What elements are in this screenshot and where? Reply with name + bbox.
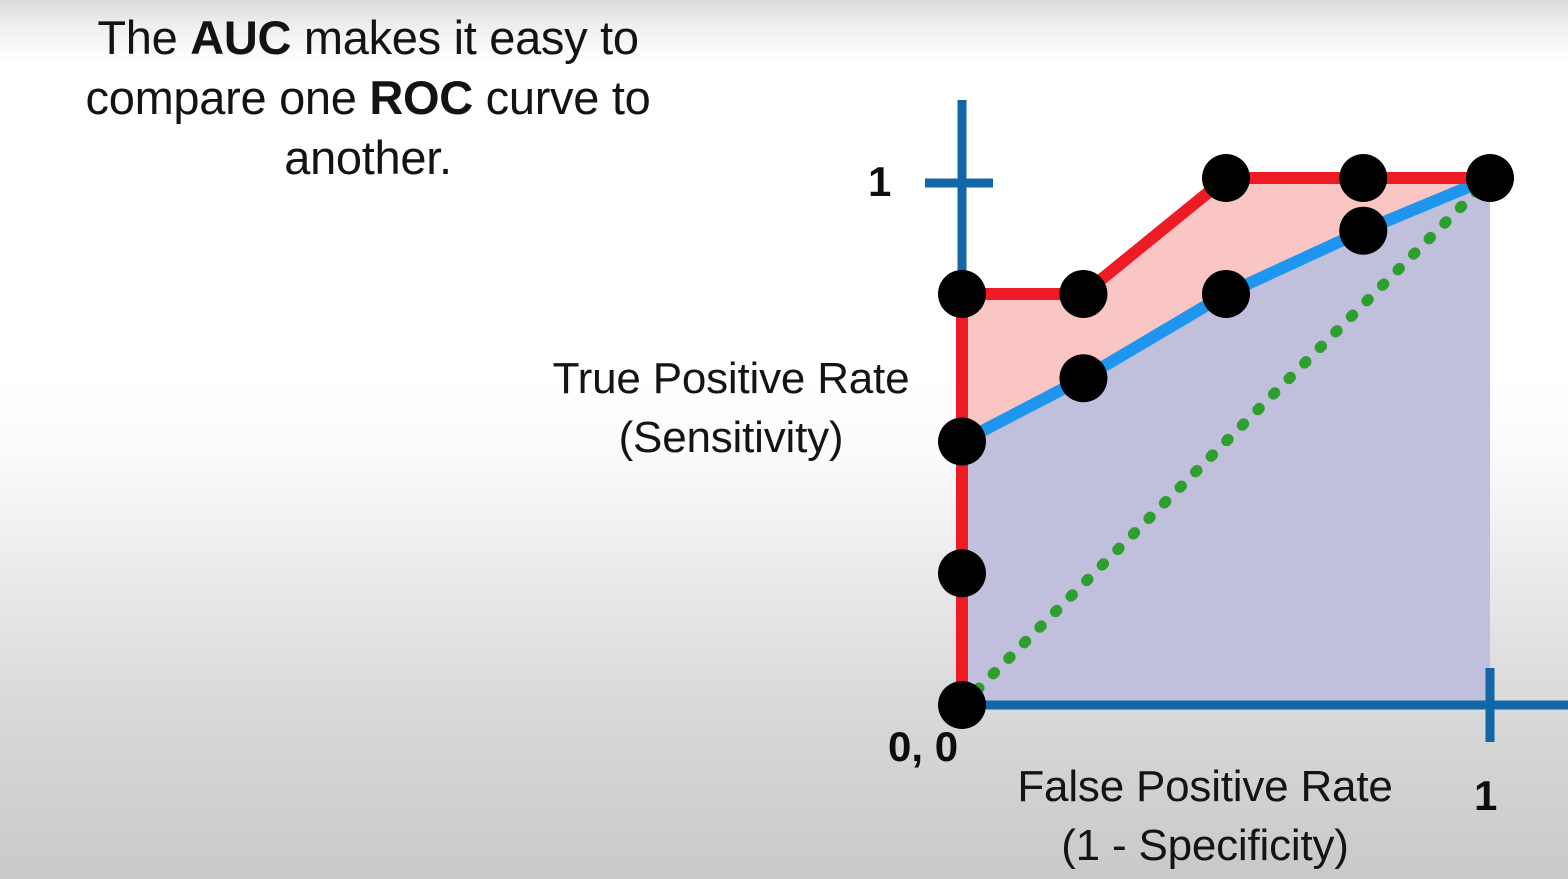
- data-point-marker: [938, 418, 986, 466]
- y-axis-title-main: True Positive Rate: [553, 354, 910, 403]
- y-tick-label-1: 1: [868, 158, 891, 206]
- data-point-marker: [1202, 270, 1250, 318]
- x-axis-title-main: False Positive Rate: [1017, 762, 1392, 811]
- data-point-marker: [1339, 207, 1387, 255]
- data-point-marker: [938, 270, 986, 318]
- y-axis-title-sub: (Sensitivity): [619, 413, 844, 462]
- data-point-marker: [1339, 154, 1387, 202]
- y-axis-title: True Positive Rate(Sensitivity): [520, 350, 942, 468]
- data-point-marker: [1059, 270, 1107, 318]
- data-point-marker: [1059, 354, 1107, 402]
- x-axis-title-sub: (1 - Specificity): [1061, 821, 1349, 870]
- x-tick-label-1: 1: [1474, 772, 1497, 820]
- slide-canvas: The AUC makes it easy to compare one ROC…: [0, 0, 1568, 879]
- data-point-marker: [1202, 154, 1250, 202]
- data-point-marker: [938, 549, 986, 597]
- data-point-marker: [938, 681, 986, 729]
- origin-tick-label: 0, 0: [888, 723, 958, 771]
- data-point-marker: [1466, 154, 1514, 202]
- x-axis-title: False Positive Rate(1 - Specificity): [1006, 758, 1404, 876]
